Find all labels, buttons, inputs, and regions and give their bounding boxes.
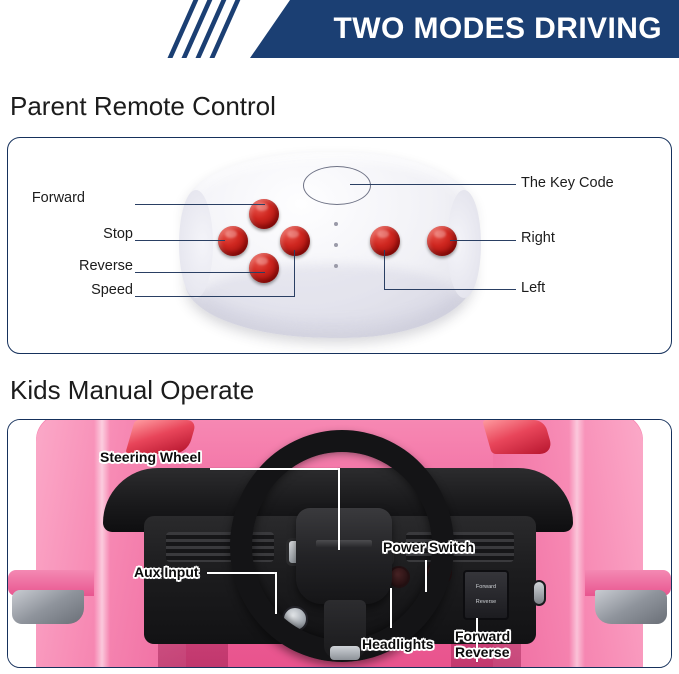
forward-reverse-switch[interactable]: Forward Reverse [463, 570, 509, 620]
label-speed: Speed [91, 282, 133, 298]
leader-line-right [450, 240, 516, 241]
mirror-glass [595, 590, 667, 624]
leader-line-left-v [384, 250, 385, 290]
switch-label-forward: Forward [476, 585, 496, 591]
indicator-dot [334, 264, 338, 268]
switch-label-reverse: Reverse [476, 600, 496, 606]
indicator-dot [334, 222, 338, 226]
photo-label-forward: Forward [455, 629, 510, 644]
photo-label-reverse: Reverse [455, 645, 510, 660]
label-the-key-code: The Key Code [521, 175, 614, 191]
leader-line-steering-wheel-h [210, 468, 340, 470]
label-left: Left [521, 280, 545, 296]
infographic-page: TWO MODES DRIVING Parent Remote Control … [0, 0, 679, 674]
photo-label-steering-wheel: Steering Wheel [100, 450, 201, 465]
key-code-oval [303, 166, 371, 205]
leader-line-speed-h [135, 296, 295, 297]
photo-label-headlights: Headlights [362, 637, 434, 652]
leader-line-aux-input-v [275, 572, 277, 614]
leader-line-aux-input-h [207, 572, 277, 574]
photo-label-aux-input: Aux Input [134, 565, 199, 580]
label-stop: Stop [103, 226, 133, 242]
section-heading-parent-remote-control: Parent Remote Control [10, 91, 276, 122]
remote-indicator-dots [334, 222, 339, 272]
side-mirror-left [8, 570, 94, 622]
car-highlight-right [569, 420, 585, 667]
leader-line-headlights [390, 588, 392, 628]
leader-line-stop [135, 240, 225, 241]
leader-line-forward [135, 204, 265, 205]
label-reverse: Reverse [79, 258, 133, 274]
steering-wheel-chrome-trim [330, 646, 360, 660]
section-heading-kids-manual-operate: Kids Manual Operate [10, 375, 254, 406]
side-mirror-right [585, 570, 671, 622]
header-banner: TWO MODES DRIVING [0, 0, 679, 58]
leader-line-speed-v [294, 250, 295, 297]
label-forward: Forward [32, 190, 85, 206]
mirror-glass [12, 590, 84, 624]
indicator-dot [334, 243, 338, 247]
remote-left-grip [179, 190, 213, 298]
label-right: Right [521, 230, 555, 246]
leader-line-power-switch [425, 560, 427, 592]
dashboard-side-knob[interactable] [532, 580, 546, 606]
banner-title: TWO MODES DRIVING [280, 0, 670, 58]
leader-line-reverse [135, 272, 265, 273]
remote-button-reverse[interactable] [249, 253, 279, 283]
leader-line-left-h [384, 289, 516, 290]
photo-label-power-switch: Power Switch [383, 540, 474, 555]
steering-wheel-hub [296, 508, 392, 604]
steering-wheel-horn-bar [316, 540, 372, 547]
leader-line-key-code [350, 184, 516, 185]
leader-line-steering-wheel-v [338, 468, 340, 550]
taillight-right [482, 420, 554, 454]
